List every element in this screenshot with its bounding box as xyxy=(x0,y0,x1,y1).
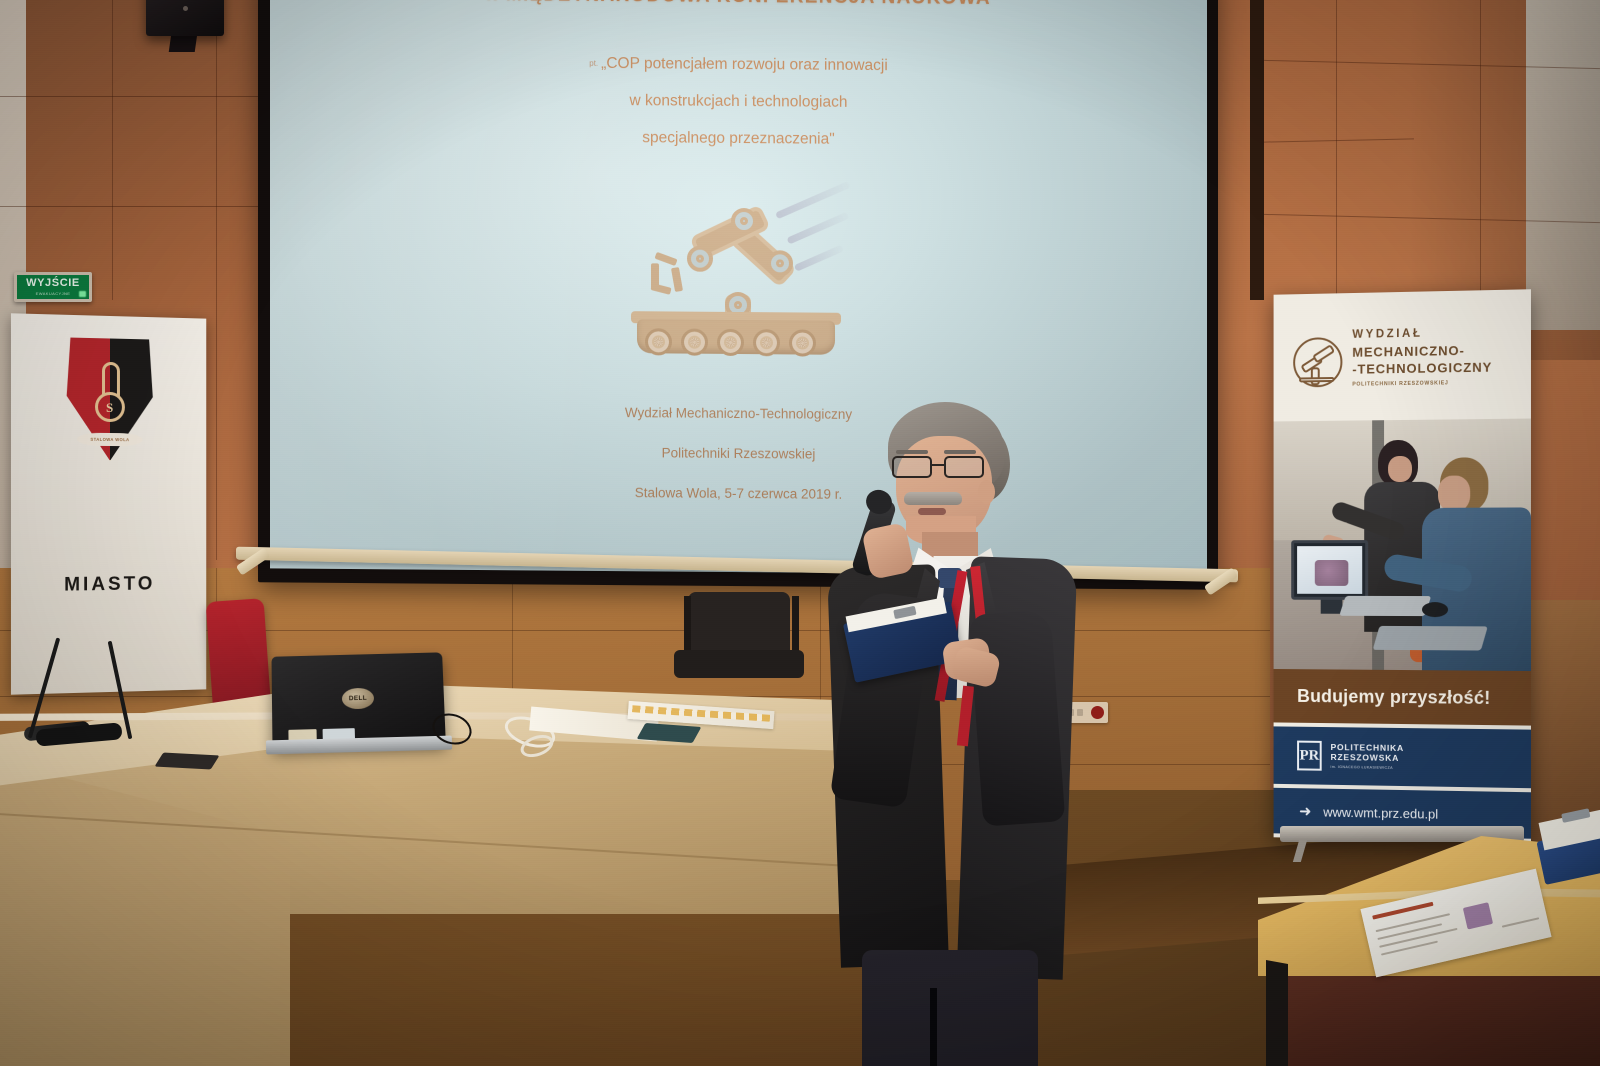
prz-text-block: POLITECHNIKA RZESZOWSKA im. IGNACEGO ŁUK… xyxy=(1331,743,1404,769)
photo-mouse xyxy=(1422,602,1448,617)
outlet-indicator xyxy=(1091,706,1104,719)
crest-hook xyxy=(102,362,120,396)
photo-keyboard xyxy=(1339,596,1431,616)
tank-wheel xyxy=(789,329,816,356)
slide-footer-line-2: Politechniki Rzeszowskiej xyxy=(662,445,816,461)
dell-logo-icon: DELL xyxy=(342,688,375,710)
banner-title-line-3: -TECHNOLOGICZNY xyxy=(1352,360,1492,377)
arm-joint-wrist xyxy=(687,246,713,272)
slide-subtitle: pt.„COP potencjałem rozwoju oraz innowac… xyxy=(589,55,888,148)
dark-office-chair xyxy=(668,592,810,686)
photo-monitor xyxy=(1291,540,1368,600)
wall-panel-divider xyxy=(1480,0,1481,300)
dell-laptop: DELL xyxy=(271,652,445,748)
trousers xyxy=(862,950,1038,1066)
motion-line xyxy=(793,245,843,272)
slide-subtitle-text-1: „COP potencjałem rozwoju oraz innowacji xyxy=(601,55,888,74)
wall-panel-line xyxy=(0,96,268,97)
slide-footer-line-3: Stalowa Wola, 5-7 czerwca 2019 r. xyxy=(635,485,843,502)
slide-footer-line-1: Wydział Mechaniczno-Technologiczny xyxy=(625,405,852,422)
eyebrow xyxy=(944,450,976,454)
exit-sign-indicator xyxy=(79,291,86,297)
photo-monitor-screen xyxy=(1297,546,1362,594)
wall-panel-divider xyxy=(1336,0,1337,300)
banner-stalowa-wola: S STALOWA WOLA MIASTO xyxy=(11,313,206,694)
document-heading xyxy=(1372,902,1433,920)
outlet-socket xyxy=(1077,709,1083,716)
exit-sign-sublabel: EWAKUACYJNE xyxy=(36,291,71,296)
crest-emblem: S xyxy=(91,362,129,429)
projection-screen: II MIĘDZYNARODOWA KONFERENCJA NAUKOWA pt… xyxy=(258,0,1218,590)
banner-title-line-2: MECHANICZNO- xyxy=(1352,342,1492,359)
speaker-bracket xyxy=(169,34,198,52)
banner-wmt: WYDZIAŁ MECHANICZNO- -TECHNOLOGICZNY POL… xyxy=(1274,289,1531,843)
motion-line xyxy=(775,181,851,219)
crest-scroll-label: STALOWA WOLA xyxy=(77,433,143,447)
document-text-line xyxy=(1502,917,1539,927)
logo-base xyxy=(1299,377,1334,382)
banner-org-block: PR POLITECHNIKA RZESZOWSKA im. IGNACEGO … xyxy=(1274,726,1531,788)
arm-joint-shoulder xyxy=(731,208,757,234)
slide-subtitle-line-2: w konstrukcjach i technologiach xyxy=(630,92,848,111)
speaker-person xyxy=(826,398,1072,1066)
foreground-table xyxy=(1258,836,1600,1066)
exit-sign-label: WYJŚCIE xyxy=(26,278,80,289)
trouser-seam xyxy=(930,988,937,1066)
wall-panel-line xyxy=(0,206,268,207)
moustache xyxy=(904,492,962,505)
banner-tagline: Budujemy przyszłość! xyxy=(1274,669,1531,726)
desk-remote xyxy=(155,752,220,769)
wall-panel-divider xyxy=(112,0,113,300)
eyebrow xyxy=(896,450,928,454)
arrow-right-icon: ➜ xyxy=(1299,802,1311,820)
document-text-line xyxy=(1377,923,1442,940)
photo-cad-model xyxy=(1315,560,1349,586)
photo-face xyxy=(1438,476,1470,512)
conference-photo-scene: WYJŚCIE EWAKUACYJNE II MIĘDZYNARODOWA KO… xyxy=(0,0,1600,1066)
wall-panel-divider xyxy=(216,0,217,560)
tank-wheel xyxy=(717,329,744,356)
glasses-bridge xyxy=(932,464,944,466)
table-leg xyxy=(1266,960,1288,1066)
wall-dark-column xyxy=(1250,0,1264,300)
slide-subtitle-line-3: specjalnego przeznaczenia" xyxy=(642,129,835,148)
banner-url: www.wmt.prz.edu.pl xyxy=(1323,804,1438,821)
tank-wheel xyxy=(645,328,672,355)
logo-arm xyxy=(1312,344,1335,363)
chair-seat xyxy=(674,650,804,678)
slide-subtitle-line-1: pt.„COP potencjałem rozwoju oraz innowac… xyxy=(589,55,888,74)
document-logo xyxy=(1463,902,1493,929)
ear xyxy=(978,480,995,504)
robotic-arm-tank-icon xyxy=(621,183,857,373)
claw-part xyxy=(650,283,671,295)
banner-title-line-1: WYDZIAŁ xyxy=(1352,326,1492,341)
table-underside xyxy=(1284,970,1600,1066)
glasses-lens xyxy=(944,456,984,478)
claw-part xyxy=(670,267,682,292)
banner-title-block: WYDZIAŁ MECHANICZNO- -TECHNOLOGICZNY POL… xyxy=(1352,326,1492,387)
city-coat-of-arms: S STALOWA WOLA xyxy=(63,335,157,462)
banner-left-title: MIASTO xyxy=(11,573,206,597)
photo-face xyxy=(1388,456,1412,482)
photo-monitor-stand xyxy=(1321,600,1343,614)
motion-line xyxy=(786,212,849,245)
tank-wheel xyxy=(681,329,708,356)
org-line-3: im. IGNACEGO ŁUKASIEWICZA xyxy=(1331,765,1404,770)
chair-back xyxy=(688,592,790,654)
photo-keyboard xyxy=(1373,626,1488,651)
banner-photo xyxy=(1274,419,1531,672)
glasses-lens xyxy=(892,456,932,478)
glasses-icon xyxy=(892,456,996,478)
arm-joint-elbow xyxy=(767,250,793,276)
crest-letter: S xyxy=(106,400,113,416)
ceiling-speaker-icon xyxy=(146,0,224,36)
prz-logo-icon: PR xyxy=(1297,741,1322,771)
tank-wheel xyxy=(753,329,780,356)
exit-sign: WYJŚCIE EWAKUACYJNE xyxy=(14,272,92,302)
slide-pt-mark: pt. xyxy=(589,59,598,68)
mouth xyxy=(918,508,946,515)
slide-title: II MIĘDZYNARODOWA KONFERENCJA NAUKOWA xyxy=(486,0,991,10)
org-line-2: RZESZOWSKA xyxy=(1331,753,1404,764)
